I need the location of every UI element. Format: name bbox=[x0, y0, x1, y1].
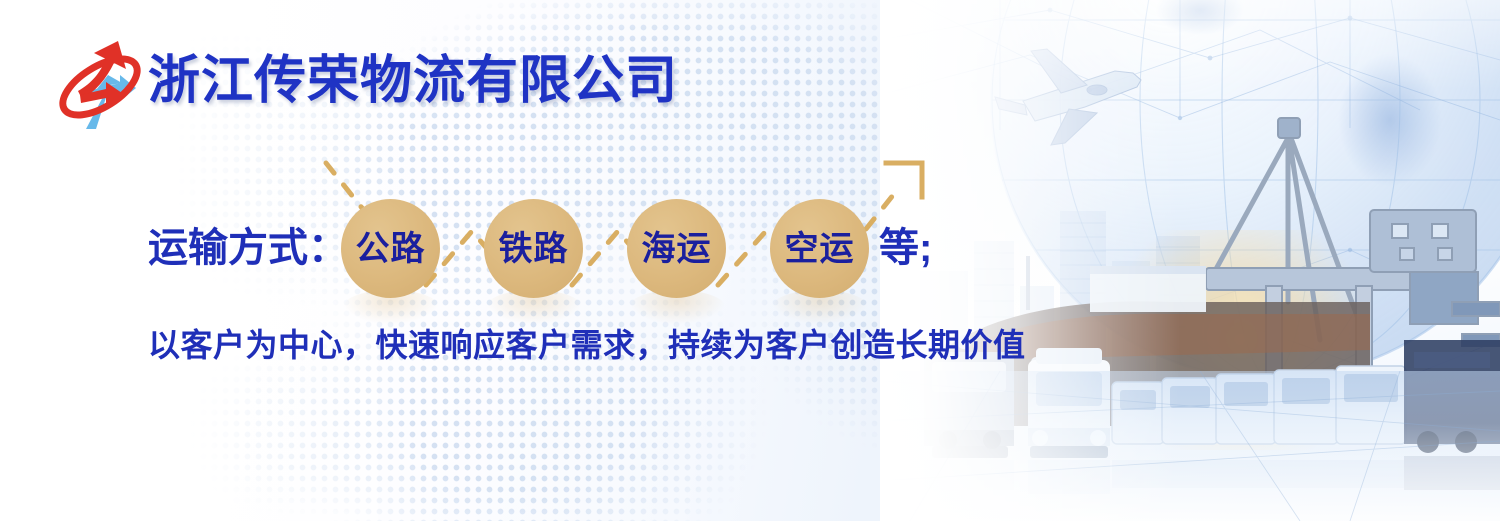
transport-mode-air[interactable]: 空运 bbox=[770, 199, 869, 298]
transport-mode-label: 公路 bbox=[356, 232, 426, 266]
logistics-photo-montage bbox=[880, 0, 1500, 521]
transport-mode-label: 空运 bbox=[785, 232, 855, 266]
company-name: 浙江传荣物流有限公司 bbox=[148, 50, 678, 112]
transport-mode-label: 铁路 bbox=[499, 232, 569, 266]
orbit-arrow-logo-icon[interactable] bbox=[48, 33, 152, 141]
etc-text: 等; bbox=[879, 222, 932, 274]
logistics-company-banner: 浙江传荣物流有限公司 运输方式： 公路 铁路 bbox=[0, 0, 1500, 521]
transport-mode-rail[interactable]: 铁路 bbox=[484, 199, 583, 298]
transport-modes-label: 运输方式： bbox=[148, 222, 348, 274]
transport-mode-label: 海运 bbox=[642, 232, 712, 266]
transport-mode-sea[interactable]: 海运 bbox=[627, 199, 726, 298]
company-tagline: 以客户为中心，快速响应客户需求，持续为客户创造长期价值 bbox=[148, 322, 1026, 368]
transport-mode-road[interactable]: 公路 bbox=[341, 199, 440, 298]
